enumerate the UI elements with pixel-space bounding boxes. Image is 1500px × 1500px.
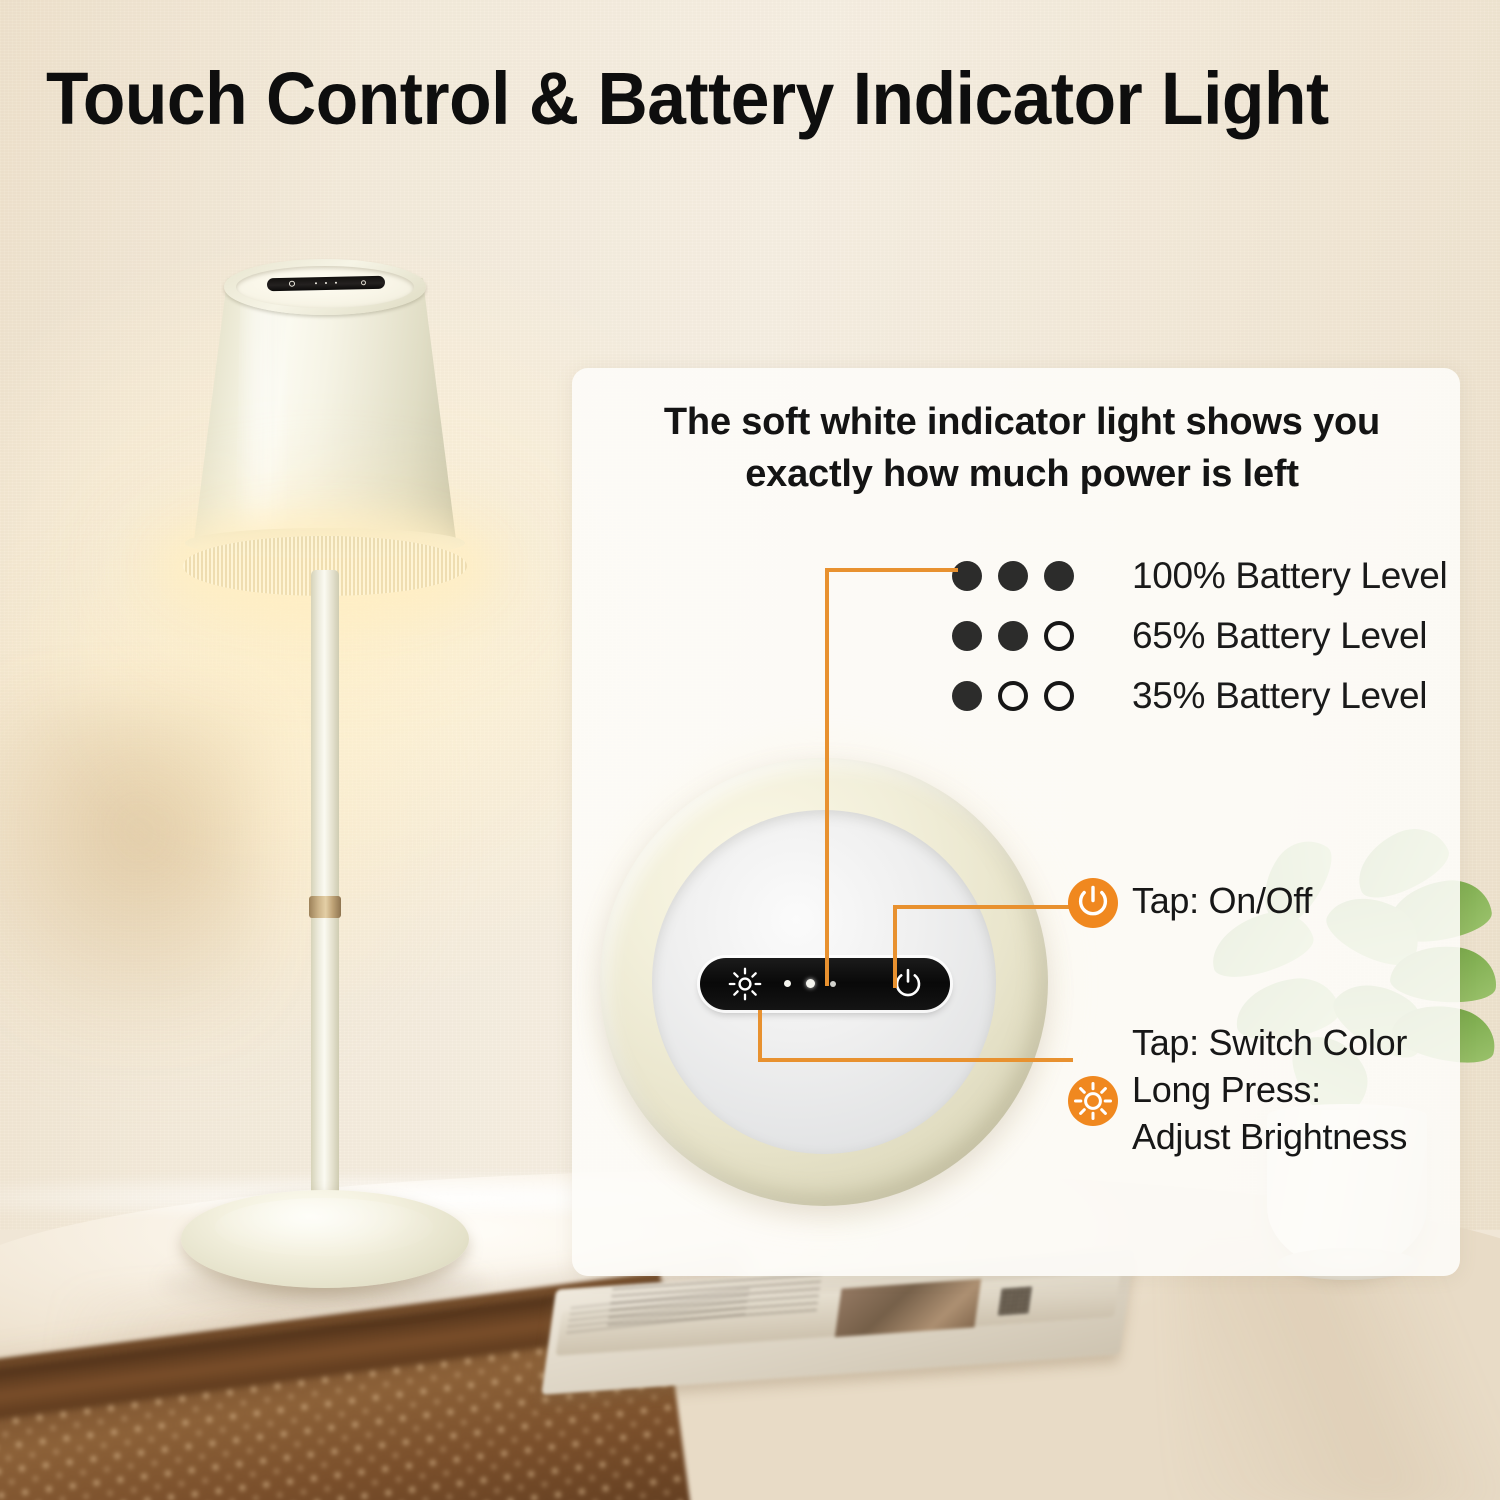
battery-row-label: 35% Battery Level bbox=[1132, 675, 1427, 717]
annotation-line-long-press: Long Press: bbox=[1132, 1067, 1407, 1114]
battery-row: 65% Battery Level bbox=[952, 606, 1452, 666]
annotation-power: Tap: On/Off bbox=[1068, 878, 1312, 928]
led-indicator-2 bbox=[325, 282, 327, 284]
cordless-table-lamp bbox=[175, 240, 475, 1330]
lamp-shade bbox=[193, 278, 457, 548]
lamp-stem bbox=[311, 570, 339, 1210]
battery-dot-filled bbox=[952, 681, 982, 711]
battery-dot-empty bbox=[998, 681, 1028, 711]
brightness-sun-icon[interactable] bbox=[728, 967, 762, 1001]
led-indicator-1 bbox=[784, 980, 791, 987]
battery-dots bbox=[952, 621, 1098, 651]
page-title: Touch Control & Battery Indicator Light bbox=[46, 62, 1390, 136]
battery-row: 100% Battery Level bbox=[952, 546, 1452, 606]
annotation-line-switch-color: Tap: Switch Color bbox=[1132, 1020, 1407, 1067]
power-icon[interactable] bbox=[1068, 878, 1118, 928]
battery-row-label: 100% Battery Level bbox=[1132, 555, 1447, 597]
lamp-touch-panel-small[interactable] bbox=[267, 276, 385, 291]
leader-battery-vertical bbox=[825, 568, 829, 986]
power-icon-small[interactable] bbox=[361, 280, 366, 285]
battery-dot-filled bbox=[1044, 561, 1074, 591]
annotation-brightness-labels: Tap: Switch Color Long Press: Adjust Bri… bbox=[1132, 1020, 1407, 1160]
newspaper-photo bbox=[835, 1279, 981, 1337]
battery-dot-filled bbox=[952, 561, 982, 591]
newspaper-qr-code bbox=[998, 1287, 1032, 1315]
led-indicator-2 bbox=[806, 979, 815, 988]
annotation-brightness: Tap: Switch Color Long Press: Adjust Bri… bbox=[1068, 1020, 1407, 1160]
battery-level-legend: 100% Battery Level 65% Battery Level 35%… bbox=[952, 546, 1452, 726]
battery-dot-empty bbox=[1044, 621, 1074, 651]
leader-power-vertical bbox=[893, 905, 897, 988]
battery-row-label: 65% Battery Level bbox=[1132, 615, 1427, 657]
lamp-top-closeup bbox=[600, 758, 1048, 1206]
battery-dot-filled bbox=[952, 621, 982, 651]
battery-dot-empty bbox=[1044, 681, 1074, 711]
leader-battery-horizontal bbox=[825, 568, 958, 572]
leader-power-horizontal bbox=[893, 905, 1073, 909]
brightness-sun-icon[interactable] bbox=[1068, 1076, 1118, 1126]
led-indicator-1 bbox=[315, 282, 317, 284]
battery-dot-filled bbox=[998, 561, 1028, 591]
brightness-sun-icon-small[interactable] bbox=[289, 281, 295, 287]
leader-brightness-vertical bbox=[758, 1010, 762, 1062]
lamp-shade-sheen bbox=[235, 286, 291, 538]
lamp-base-highlight bbox=[215, 1198, 433, 1256]
annotation-power-label: Tap: On/Off bbox=[1132, 878, 1312, 925]
product-infographic: Touch Control & Battery Indicator Light … bbox=[0, 0, 1500, 1500]
leader-brightness-horizontal bbox=[758, 1058, 1073, 1062]
battery-dots bbox=[952, 561, 1098, 591]
annotation-line-adjust-brightness: Adjust Brightness bbox=[1132, 1114, 1407, 1161]
battery-dots bbox=[952, 681, 1098, 711]
battery-row: 35% Battery Level bbox=[952, 666, 1452, 726]
led-indicator-3 bbox=[830, 981, 836, 987]
battery-dot-filled bbox=[998, 621, 1028, 651]
led-indicator-3 bbox=[335, 282, 337, 284]
lamp-stem-brass-band bbox=[309, 896, 341, 918]
panel-headline: The soft white indicator light shows you… bbox=[642, 396, 1402, 501]
